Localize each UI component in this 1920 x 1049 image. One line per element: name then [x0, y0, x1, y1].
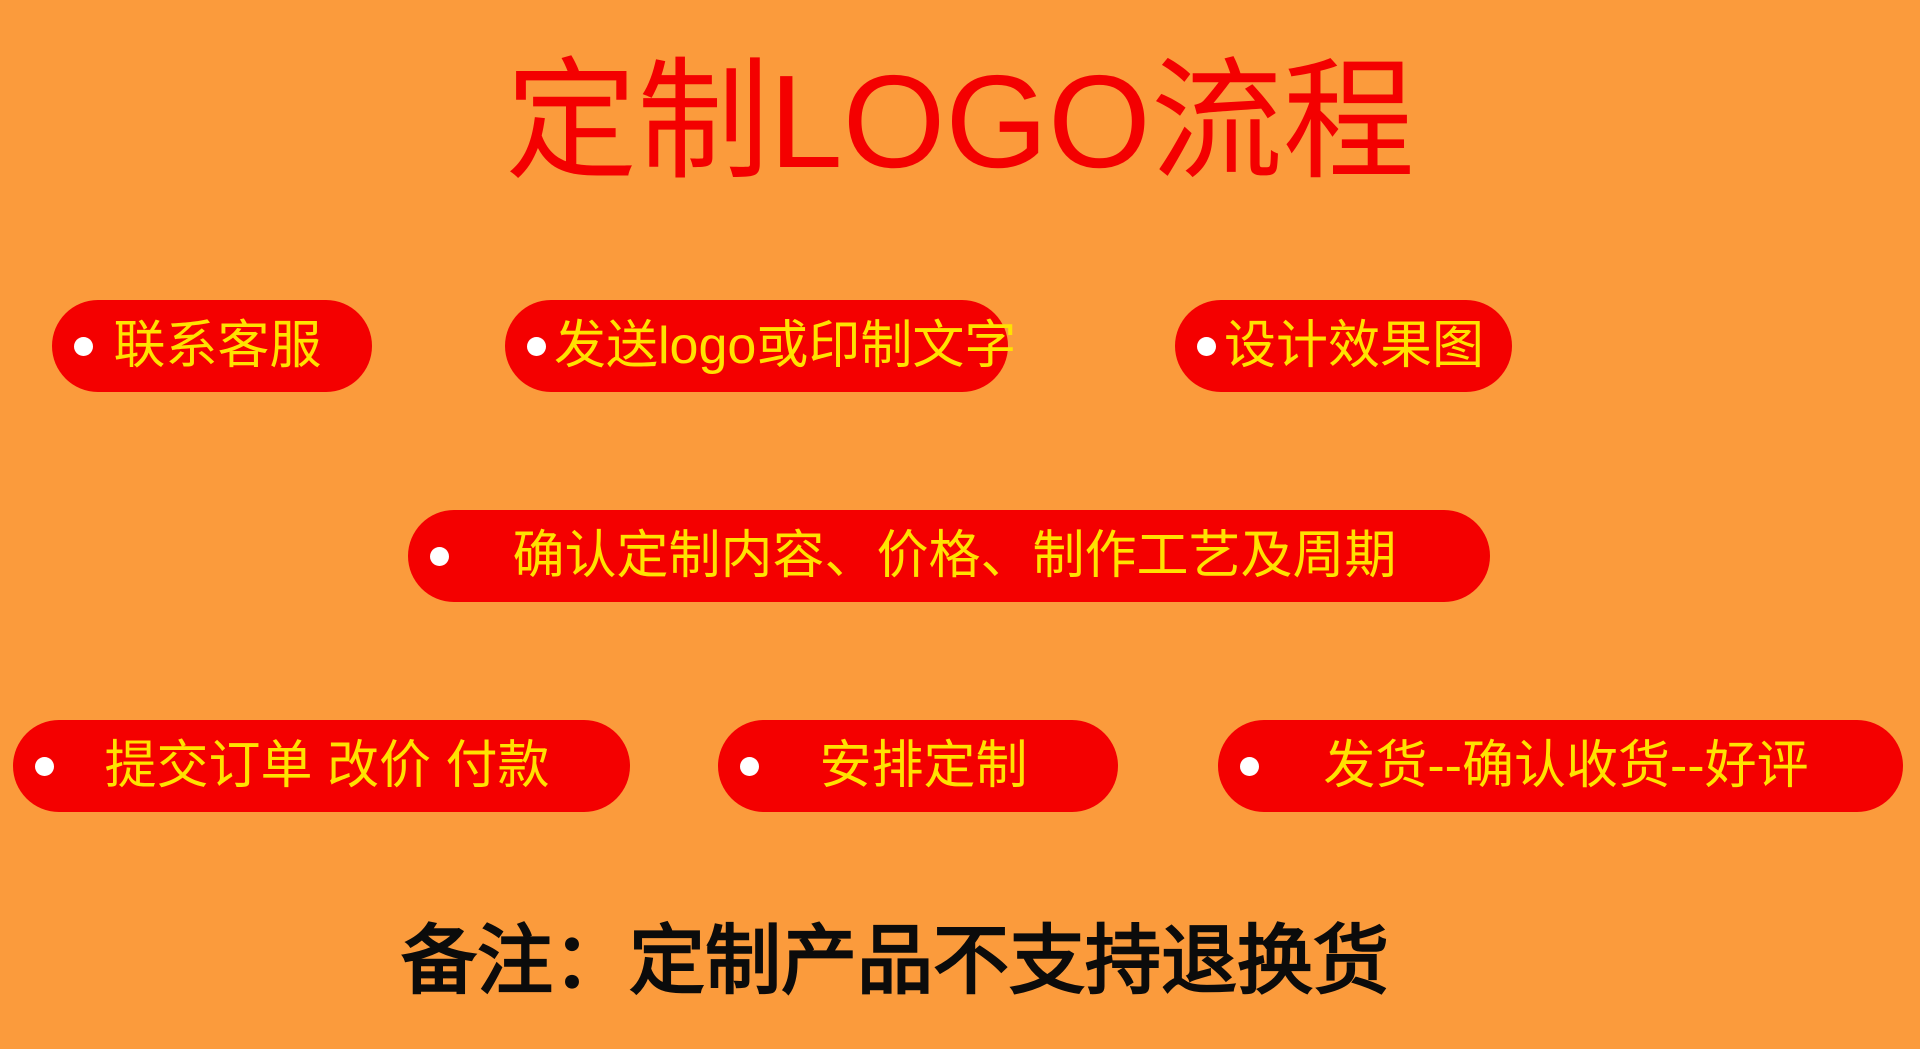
- footnote-text: 备注：定制产品不支持退换货: [0, 918, 1790, 1005]
- page-title: 定制LOGO流程: [0, 48, 1920, 196]
- step-pill-design-mockup[interactable]: 设计效果图: [1175, 300, 1512, 392]
- bullet-dot-icon: [1197, 337, 1216, 356]
- bullet-dot-icon: [74, 337, 93, 356]
- bullet-dot-icon: [740, 757, 759, 776]
- step-pill-label: 安排定制: [767, 740, 1096, 792]
- bullet-dot-icon: [1240, 757, 1259, 776]
- step-pill-label: 发货--确认收货--好评: [1267, 740, 1881, 792]
- bullet-dot-icon: [527, 337, 546, 356]
- bullet-dot-icon: [35, 757, 54, 776]
- step-pill-label: 发送logo或印制文字: [554, 320, 1032, 372]
- step-pill-contact-support[interactable]: 联系客服: [52, 300, 372, 392]
- step-pill-label: 设计效果图: [1224, 320, 1500, 372]
- bullet-dot-icon: [430, 547, 449, 566]
- step-pill-label: 提交订单 改价 付款: [62, 740, 608, 792]
- step-pill-label: 确认定制内容、价格、制作工艺及周期: [457, 530, 1468, 582]
- step-pill-arrange-production[interactable]: 安排定制: [718, 720, 1118, 812]
- step-pill-submit-order-pay[interactable]: 提交订单 改价 付款: [13, 720, 630, 812]
- step-pill-send-logo[interactable]: 发送logo或印制文字: [505, 300, 1008, 392]
- custom-logo-process-poster: 定制LOGO流程 联系客服 发送logo或印制文字 设计效果图 确认定制内容、价…: [0, 0, 1920, 1049]
- step-pill-label: 联系客服: [101, 320, 350, 372]
- step-pill-confirm-details[interactable]: 确认定制内容、价格、制作工艺及周期: [408, 510, 1490, 602]
- step-pill-ship-confirm-review[interactable]: 发货--确认收货--好评: [1218, 720, 1903, 812]
